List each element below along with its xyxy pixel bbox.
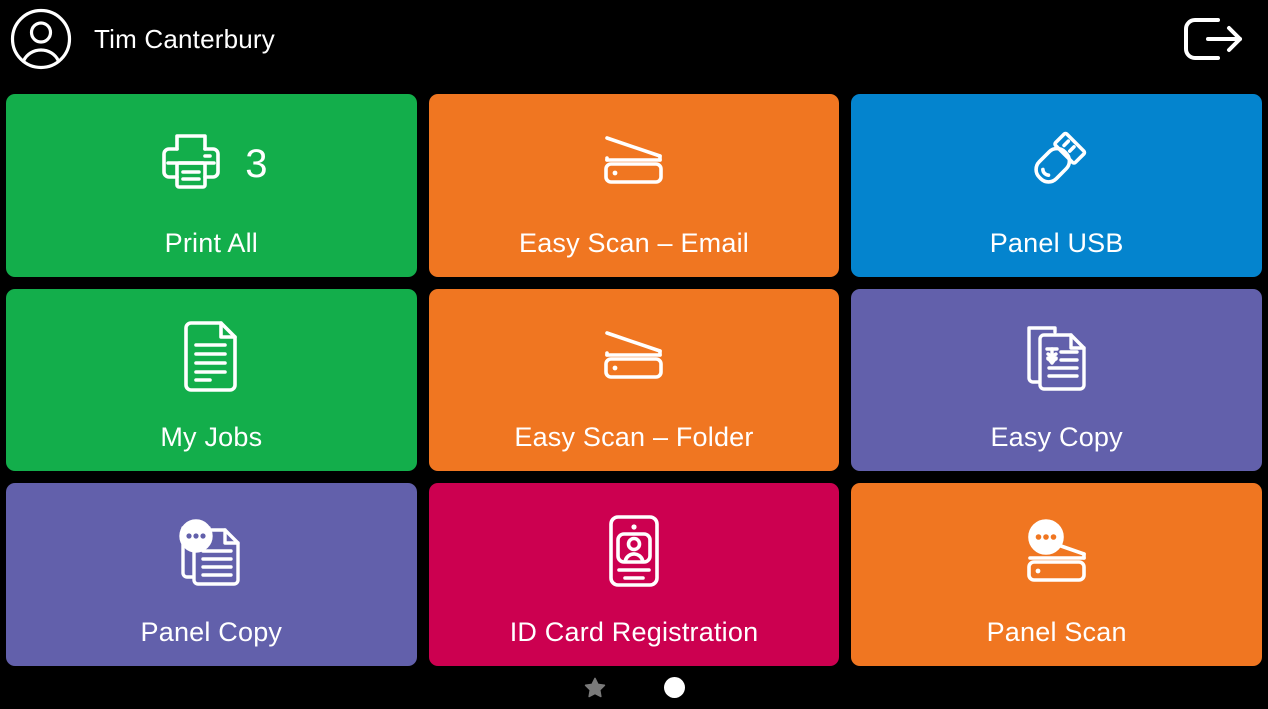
tile-icon-area (851, 483, 1262, 617)
tile-icon-area (429, 289, 840, 423)
tile-grid: 3 Print All Easy Scan – Email (6, 94, 1262, 666)
tile-label: Panel USB (990, 228, 1124, 277)
tile-label: Panel Copy (141, 617, 283, 666)
tile-label: Easy Scan – Email (519, 228, 749, 277)
usb-drive-icon (1021, 125, 1093, 202)
logout-icon[interactable] (1180, 14, 1246, 64)
tile-easy-scan-folder[interactable]: Easy Scan – Folder (429, 289, 840, 472)
tile-icon-area: 3 (6, 94, 417, 228)
user-avatar-icon[interactable] (10, 8, 72, 70)
page-indicator-bar (0, 666, 1268, 709)
tile-icon-area (6, 483, 417, 617)
header-bar: Tim Canterbury (0, 0, 1268, 78)
printer-icon (155, 125, 227, 202)
tile-panel-scan[interactable]: Panel Scan (851, 483, 1262, 666)
tile-icon-area (429, 94, 840, 228)
scanner-icon (598, 130, 670, 197)
tile-id-card-registration[interactable]: ID Card Registration (429, 483, 840, 666)
tile-icon-area (6, 289, 417, 423)
tile-icon-area (429, 483, 840, 617)
user-name-label: Tim Canterbury (94, 24, 275, 55)
tile-print-all[interactable]: 3 Print All (6, 94, 417, 277)
tile-label: Easy Copy (990, 422, 1122, 471)
tile-label: Easy Scan – Folder (514, 422, 753, 471)
tile-icon-area (851, 289, 1262, 423)
tile-label: Panel Scan (987, 617, 1127, 666)
tile-my-jobs[interactable]: My Jobs (6, 289, 417, 472)
home-screen: Tim Canterbury (0, 0, 1268, 709)
document-icon (179, 319, 243, 398)
panel-scan-icon (1018, 516, 1096, 591)
tile-panel-copy[interactable]: Panel Copy (6, 483, 417, 666)
print-job-count-badge: 3 (245, 144, 267, 184)
tile-easy-copy[interactable]: Easy Copy (851, 289, 1262, 472)
tile-icon-area (851, 94, 1262, 228)
copy-docs-icon (1021, 319, 1093, 398)
tile-label: My Jobs (160, 422, 262, 471)
star-icon[interactable] (584, 677, 606, 699)
tile-easy-scan-email[interactable]: Easy Scan – Email (429, 94, 840, 277)
id-card-icon (606, 513, 662, 594)
panel-copy-icon (173, 514, 249, 593)
tile-label: Print All (165, 228, 258, 277)
tile-label: ID Card Registration (510, 617, 759, 666)
page-dot-icon[interactable] (664, 677, 685, 698)
scanner-icon (598, 325, 670, 392)
tile-panel-usb[interactable]: Panel USB (851, 94, 1262, 277)
